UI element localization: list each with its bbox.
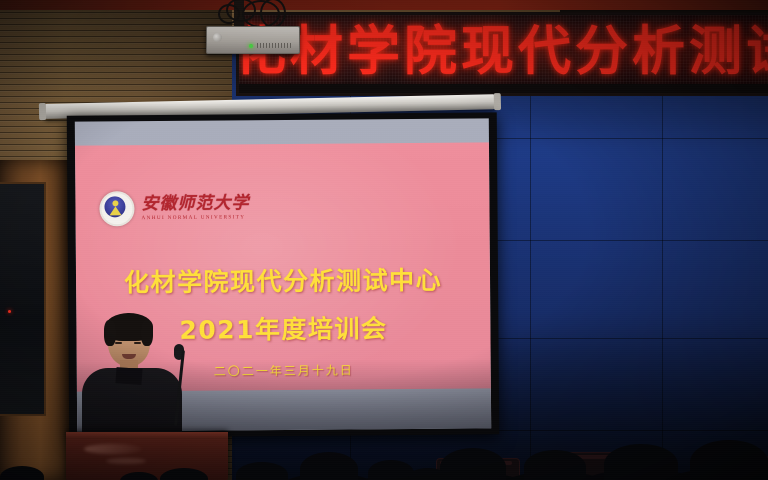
side-door[interactable] xyxy=(0,160,73,480)
slide-heading-primary: 化材学院现代分析测试中心 xyxy=(76,260,490,299)
university-name-en: ANHUI NORMAL UNIVERSITY xyxy=(142,215,250,221)
university-name-cn: 安徽师范大学 xyxy=(141,195,249,213)
audience-head xyxy=(690,440,768,480)
led-banner-frame-bottom xyxy=(239,84,768,93)
audience-head xyxy=(300,452,358,480)
university-emblem-icon xyxy=(99,191,134,226)
projector-vent xyxy=(257,43,293,48)
ceiling-edge-strip xyxy=(0,0,768,10)
ceiling-projector xyxy=(206,26,300,54)
door-indicator-led xyxy=(8,310,11,313)
audience-head xyxy=(604,444,678,480)
lecture-hall-photo: 化材学院现代分析测试 xyxy=(0,0,768,480)
audience-head xyxy=(440,448,506,480)
door-window xyxy=(0,182,46,416)
projector-lens-icon xyxy=(213,33,222,42)
presenter xyxy=(86,316,178,446)
university-logo: 安徽师范大学 ANHUI NORMAL UNIVERSITY xyxy=(99,190,249,226)
led-banner-text: 化材学院现代分析测试 xyxy=(236,19,768,85)
audience-head xyxy=(524,450,586,480)
projector-power-led xyxy=(249,44,253,48)
led-banner: 化材学院现代分析测试 xyxy=(236,12,768,96)
